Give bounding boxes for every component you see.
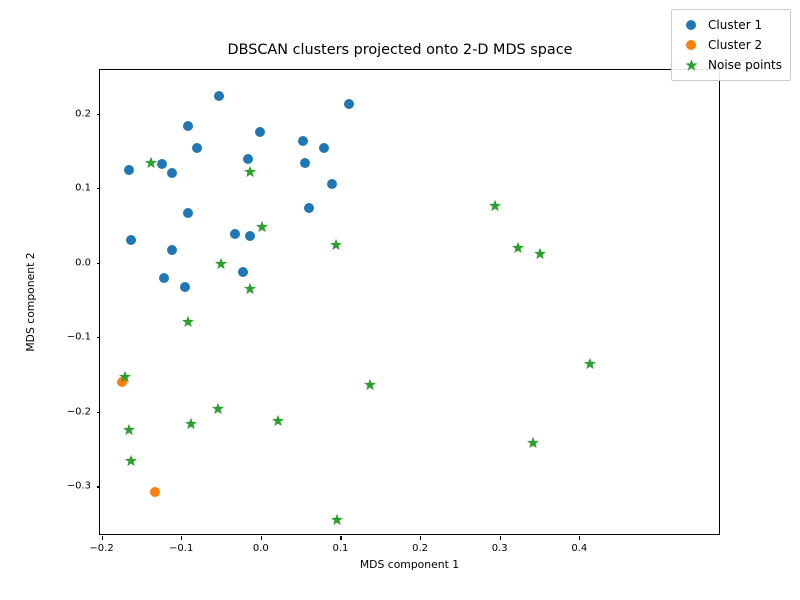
data-point-cluster-1	[304, 203, 314, 213]
data-point-noise-points	[488, 197, 501, 210]
legend-item-noise-points[interactable]: Noise points	[678, 55, 782, 75]
data-point-noise-points	[215, 255, 228, 268]
x-tick-label: 0.1	[332, 543, 348, 554]
data-point-cluster-1	[192, 143, 202, 153]
x-tick-mark	[102, 536, 103, 540]
y-axis-label: MDS component 2	[24, 69, 37, 535]
data-point-cluster-1	[167, 168, 177, 178]
x-tick-mark	[579, 536, 580, 540]
data-point-noise-points	[272, 412, 285, 425]
data-point-cluster-1	[300, 158, 310, 168]
legend-item-label: Noise points	[704, 58, 782, 72]
y-tick-label: 0.0	[75, 257, 91, 268]
data-point-noise-points	[527, 434, 540, 447]
data-point-cluster-1	[255, 127, 265, 137]
data-point-cluster-1	[183, 208, 193, 218]
data-point-noise-points	[256, 218, 269, 231]
data-point-cluster-1	[214, 91, 224, 101]
x-tick-label: 0.2	[412, 543, 428, 554]
data-point-noise-points	[122, 421, 135, 434]
scatter-points-layer	[100, 70, 719, 534]
y-tick-label: −0.3	[67, 481, 91, 492]
y-tick-label: −0.2	[67, 406, 91, 417]
data-point-cluster-1	[230, 229, 240, 239]
data-point-noise-points	[244, 281, 257, 294]
data-point-cluster-1	[167, 245, 177, 255]
y-tick-mark	[97, 412, 101, 413]
data-point-noise-points	[329, 236, 342, 249]
data-point-cluster-2	[117, 377, 127, 387]
y-tick-mark	[97, 188, 101, 189]
x-tick-mark	[340, 536, 341, 540]
x-tick-label: −0.1	[169, 543, 193, 554]
legend-item-cluster-1[interactable]: Cluster 1	[678, 15, 782, 35]
y-tick-mark	[97, 337, 101, 338]
data-point-noise-points	[118, 368, 131, 381]
data-point-noise-points	[363, 376, 376, 389]
x-tick-label: −0.2	[89, 543, 113, 554]
data-point-cluster-1	[319, 143, 329, 153]
data-point-cluster-1	[245, 231, 255, 241]
data-point-noise-points	[511, 240, 524, 253]
data-point-noise-points	[244, 163, 257, 176]
legend-item-label: Cluster 2	[704, 38, 762, 52]
data-point-noise-points	[144, 154, 157, 167]
legend-item-cluster-2[interactable]: Cluster 2	[678, 35, 782, 55]
data-point-cluster-1	[344, 99, 354, 109]
legend-item-label: Cluster 1	[704, 18, 762, 32]
data-point-noise-points	[534, 246, 547, 259]
y-tick-mark	[97, 486, 101, 487]
data-point-cluster-1	[183, 121, 193, 131]
x-axis-label: MDS component 1	[99, 558, 720, 571]
x-tick-mark	[261, 536, 262, 540]
x-tick-label: 0.4	[571, 543, 587, 554]
circle-marker-icon	[678, 40, 704, 50]
data-point-cluster-1	[157, 159, 167, 169]
data-point-noise-points	[125, 452, 138, 465]
y-tick-label: 0.1	[75, 183, 91, 194]
y-tick-label: 0.2	[75, 108, 91, 119]
data-point-noise-points	[331, 512, 344, 525]
x-tick-mark	[500, 536, 501, 540]
data-point-noise-points	[211, 400, 224, 413]
circle-marker-icon	[678, 20, 704, 30]
data-point-cluster-1	[124, 165, 134, 175]
data-point-cluster-1	[126, 235, 136, 245]
x-tick-mark	[420, 536, 421, 540]
x-tick-label: 0.0	[253, 543, 269, 554]
data-point-cluster-1	[243, 154, 253, 164]
data-point-cluster-1	[180, 282, 190, 292]
x-tick-label: 0.3	[492, 543, 508, 554]
matplotlib-figure: DBSCAN clusters projected onto 2-D MDS s…	[0, 0, 800, 600]
y-tick-label: −0.1	[67, 332, 91, 343]
data-point-cluster-1	[238, 267, 248, 277]
data-point-cluster-1	[298, 136, 308, 146]
y-tick-mark	[97, 114, 101, 115]
y-tick-mark	[97, 263, 101, 264]
plot-axes: −0.2−0.10.00.10.20.30.4−0.3−0.2−0.10.00.…	[99, 69, 720, 535]
data-point-cluster-2	[150, 487, 160, 497]
data-point-noise-points	[184, 415, 197, 428]
legend[interactable]: Cluster 1Cluster 2Noise points	[671, 9, 791, 81]
star-marker-icon	[678, 59, 704, 72]
data-point-noise-points	[182, 314, 195, 327]
x-tick-mark	[181, 536, 182, 540]
data-point-cluster-1	[159, 273, 169, 283]
data-point-noise-points	[584, 355, 597, 368]
data-point-cluster-1	[327, 179, 337, 189]
